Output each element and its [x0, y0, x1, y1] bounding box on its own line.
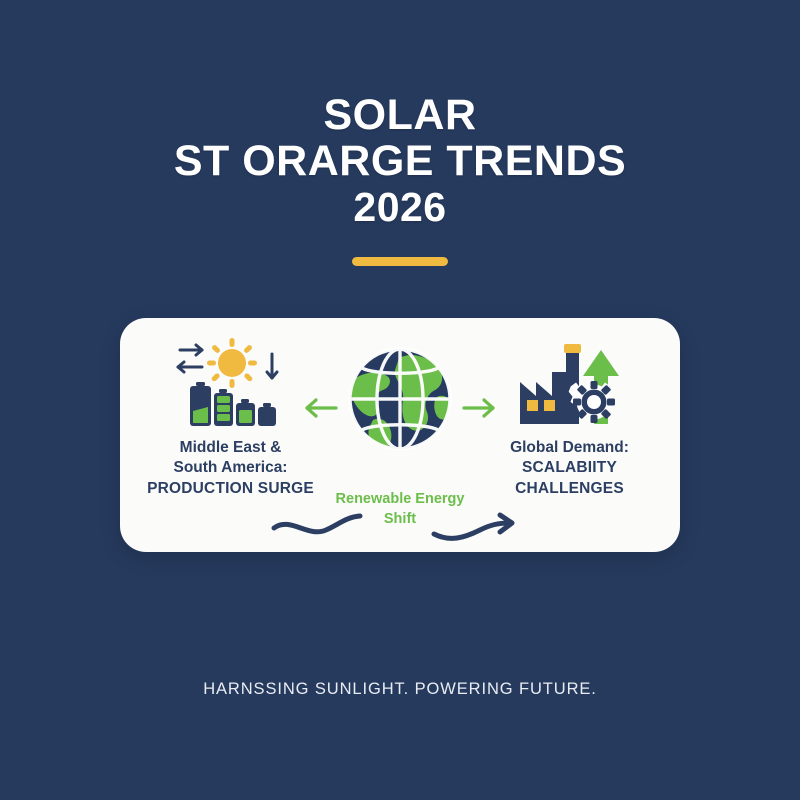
- arrow-left-green-icon: [303, 396, 339, 420]
- left-label-line-2: South America:: [138, 458, 323, 478]
- factory-gear-growth-svg: [510, 338, 630, 426]
- factory-window-1: [527, 400, 538, 411]
- globe-svg: [343, 342, 457, 456]
- page-title: SOLAR ST ORARGE TRENDS 2026: [0, 92, 800, 229]
- shift-caption-line-2: Shift: [300, 510, 500, 530]
- content-card: Middle East & South America: PRODUCTION …: [120, 318, 680, 552]
- right-panel-label: Global Demand: SCALABIITY CHALLENGES: [477, 438, 662, 499]
- right-label-line-1: Global Demand:: [477, 438, 662, 458]
- arrow-down-icon: [267, 354, 277, 378]
- left-label-line-1: Middle East &: [138, 438, 323, 458]
- shift-caption: Renewable Energy Shift: [300, 490, 500, 529]
- title-line-1: SOLAR: [0, 92, 800, 138]
- title-line-3: 2026: [0, 185, 800, 229]
- shift-caption-line-1: Renewable Energy: [300, 490, 500, 510]
- title-line-2: ST ORARGE TRENDS: [0, 138, 800, 184]
- factory-gear-growth-icon: [477, 338, 662, 426]
- chimney-cap: [564, 344, 581, 353]
- sun-batteries-icon: [138, 338, 323, 426]
- right-panel: Global Demand: SCALABIITY CHALLENGES: [477, 338, 662, 499]
- right-label-line-2: SCALABIITY: [477, 458, 662, 478]
- left-panel-label: Middle East & South America: PRODUCTION …: [138, 438, 323, 499]
- left-label-line-3: PRODUCTION SURGE: [138, 479, 323, 499]
- footer-tagline: HARNSSING SUNLIGHT. POWERING FUTURE.: [0, 680, 800, 699]
- left-panel: Middle East & South America: PRODUCTION …: [138, 338, 323, 499]
- factory-window-2: [544, 400, 555, 411]
- arrow-left-green-svg: [303, 396, 339, 420]
- globe-icon: [343, 342, 457, 456]
- sun-batteries-svg: [166, 338, 296, 426]
- sun-icon: [207, 338, 257, 388]
- arrow-right-icon: [180, 345, 202, 355]
- title-divider: [352, 257, 448, 266]
- arrow-left-icon: [178, 362, 202, 372]
- battery-group-icon: [190, 382, 276, 426]
- right-label-line-3: CHALLENGES: [477, 479, 662, 499]
